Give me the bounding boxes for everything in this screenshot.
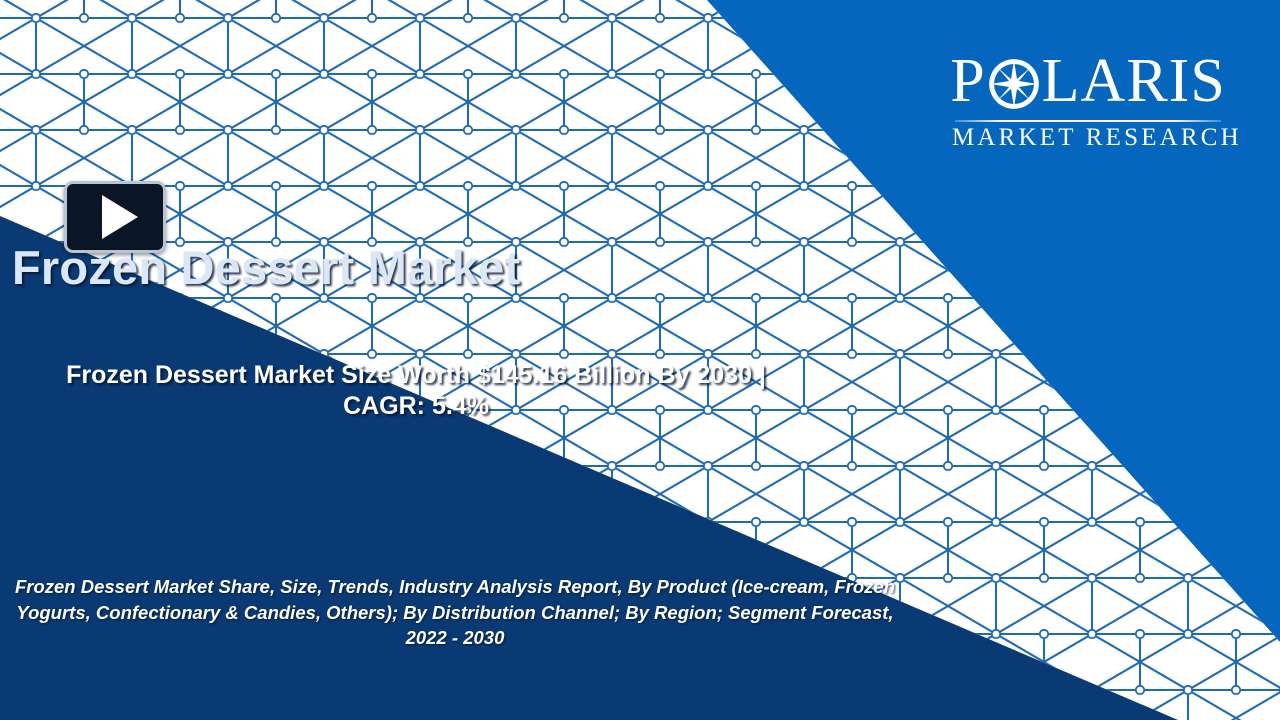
polaris-market-research-logo: P L bbox=[952, 48, 1224, 152]
subtitle-block: Frozen Dessert Market Size Worth $145.16… bbox=[16, 360, 816, 421]
subtitle-line-2: CAGR: 5.4% bbox=[16, 391, 816, 422]
logo-tagline: MARKET RESEARCH bbox=[952, 124, 1224, 152]
compass-star-icon bbox=[987, 57, 1041, 111]
logo-letters-laris: LARIS bbox=[1042, 52, 1226, 111]
logo-wordmark: P L bbox=[952, 48, 1224, 114]
play-triangle-icon bbox=[102, 195, 138, 239]
page-title: Frozen Dessert Market bbox=[12, 240, 520, 295]
report-description: Frozen Dessert Market Share, Size, Trend… bbox=[10, 574, 900, 651]
subtitle-line-1: Frozen Dessert Market Size Worth $145.16… bbox=[16, 360, 816, 391]
presentation-slide: P L bbox=[0, 0, 1280, 720]
logo-divider-rule bbox=[955, 120, 1221, 122]
logo-letter-p: P bbox=[950, 52, 985, 111]
